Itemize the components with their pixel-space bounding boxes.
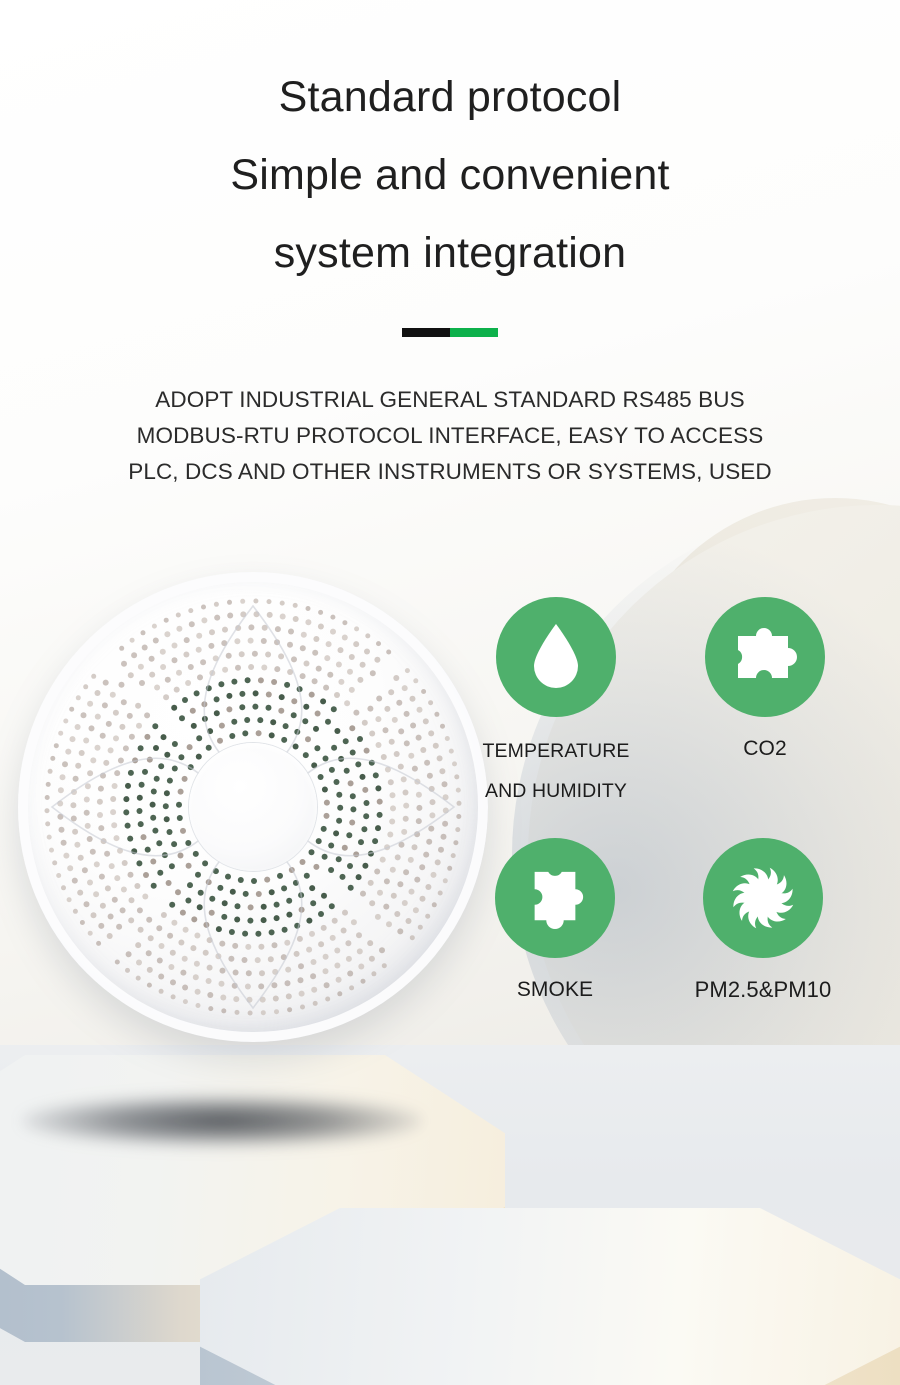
feature-temperature-humidity[interactable]: TEMPERATURE AND HUMIDITY — [456, 597, 656, 811]
lede-line-1: ADOPT INDUSTRIAL GENERAL STANDARD RS485 … — [0, 382, 900, 418]
puzzle-piece-rotated-icon — [495, 838, 615, 958]
headline: Standard protocol Simple and convenient … — [0, 58, 900, 292]
feature-label: PM2.5&PM10 — [663, 972, 863, 1008]
feature-co2[interactable]: CO2 — [665, 597, 865, 767]
water-drop-icon — [496, 597, 616, 717]
divider-segment-dark — [402, 328, 450, 337]
feature-label: CO2 — [665, 731, 865, 767]
podium-front — [200, 1208, 900, 1385]
lede-line-3: PLC, DCS AND OTHER INSTRUMENTS OR SYSTEM… — [0, 454, 900, 490]
feature-label: SMOKE — [455, 972, 655, 1008]
lede-paragraph: ADOPT INDUSTRIAL GENERAL STANDARD RS485 … — [0, 382, 900, 490]
divider-segment-green — [450, 328, 498, 337]
feature-smoke[interactable]: SMOKE — [455, 838, 655, 1008]
puzzle-piece-icon — [705, 597, 825, 717]
product-body — [18, 572, 488, 1042]
headline-divider — [0, 328, 900, 337]
headline-line-1: Standard protocol — [0, 58, 900, 136]
feature-pm25-pm10[interactable]: PM2.5&PM10 — [663, 838, 863, 1008]
headline-line-2: Simple and convenient — [0, 136, 900, 214]
product-center-disc — [189, 743, 317, 871]
headline-line-3: system integration — [0, 214, 900, 292]
product-image — [18, 572, 488, 1042]
promo-page: Standard protocol Simple and convenient … — [0, 0, 900, 1385]
sun-burst-icon — [703, 838, 823, 958]
product-contact-shadow — [22, 1095, 422, 1147]
lede-line-2: MODBUS-RTU PROTOCOL INTERFACE, EASY TO A… — [0, 418, 900, 454]
feature-label: TEMPERATURE AND HUMIDITY — [456, 731, 656, 811]
podium-front-top — [200, 1208, 900, 1385]
